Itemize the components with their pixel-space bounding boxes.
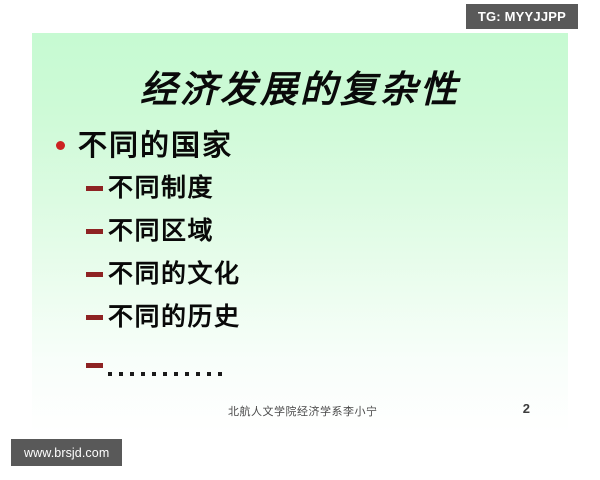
- dash-bullet-icon: [86, 229, 103, 234]
- presentation-slide: 经济发展的复杂性 不同的国家 不同制度 不同区域 不同的文化 不同的历史: [32, 33, 568, 433]
- outline-item-level2: 不同区域: [86, 212, 554, 250]
- slide-outline-body: 不同的国家 不同制度 不同区域 不同的文化 不同的历史: [56, 130, 554, 389]
- outline-item-level2: 不同制度: [86, 169, 554, 207]
- outline-item-level1: 不同的国家: [56, 130, 554, 160]
- outline-item-label: 不同区域: [108, 218, 214, 244]
- ellipsis-dots: [108, 351, 229, 379]
- round-bullet-icon: [56, 141, 65, 150]
- watermark-badge-top-right: TG: MYYJJPP: [466, 4, 578, 29]
- watermark-badge-bottom-left: www.brsjd.com: [11, 439, 122, 466]
- outline-item-label: 不同制度: [108, 175, 214, 201]
- slide-page-number: 2: [523, 401, 530, 416]
- slide-footer-note: 北航人文学院经济学系李小宁: [228, 403, 378, 419]
- slide-title: 经济发展的复杂性: [32, 59, 568, 113]
- outline-item-label: 不同的文化: [108, 261, 241, 287]
- outline-item-level2-ellipsis: [86, 346, 554, 384]
- dash-bullet-icon: [86, 186, 103, 191]
- outline-item-level2: 不同的历史: [86, 298, 554, 336]
- outline-item-label: 不同的国家: [78, 130, 233, 160]
- dash-bullet-icon: [86, 315, 103, 320]
- dash-bullet-icon: [86, 272, 103, 277]
- dash-bullet-icon: [86, 363, 103, 368]
- outline-item-label: 不同的历史: [108, 304, 241, 330]
- outline-item-level2: 不同的文化: [86, 255, 554, 293]
